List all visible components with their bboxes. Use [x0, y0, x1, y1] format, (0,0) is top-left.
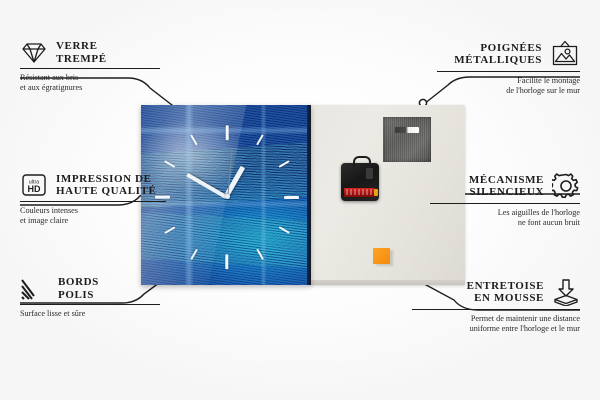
- metal-hanger-plate: [383, 117, 431, 162]
- callout-subtitle: Couleurs intenses et image claire: [20, 206, 166, 226]
- gear-icon: [552, 172, 580, 200]
- callout-subtitle: Résistant aux bris et aux égratignures: [20, 73, 160, 93]
- mechanism-hanging-loop: [353, 156, 371, 167]
- callout-impression-haute-qualite: ultra HD IMPRESSION DE HAUTE QUALITÉ Cou…: [20, 172, 166, 226]
- callout-subtitle: Les aiguilles de l'horloge ne font aucun…: [430, 208, 580, 228]
- clock-side-bevel: [307, 105, 311, 285]
- clock-face: [141, 105, 311, 285]
- callout-rule: [20, 68, 160, 69]
- callout-bords-polis: BORDS POLIS Surface lisse et sûre: [20, 276, 160, 319]
- callout-verre-trempe: VERRE TREMPÉ Résistant aux bris et aux é…: [20, 40, 160, 93]
- infographic-canvas: VERRE TREMPÉ Résistant aux bris et aux é…: [0, 0, 600, 400]
- callout-header: ultra HD IMPRESSION DE HAUTE QUALITÉ: [20, 172, 166, 198]
- battery: [344, 188, 375, 197]
- callout-rule: [412, 309, 580, 310]
- ultra-hd-badge-icon: ultra HD: [20, 172, 48, 198]
- callout-title: IMPRESSION DE HAUTE QUALITÉ: [56, 173, 156, 198]
- picture-frame-hanger-icon: [550, 40, 580, 68]
- battery-label: [346, 189, 372, 195]
- callout-header: MÉCANISME SILENCIEUX: [430, 172, 580, 200]
- callout-title: MÉCANISME SILENCIEUX: [469, 174, 544, 199]
- callout-entretoise-en-mousse: ENTRETOISE EN MOUSSE Permet de maintenir…: [412, 278, 580, 334]
- diamond-icon: [20, 41, 48, 65]
- callout-header: VERRE TREMPÉ: [20, 40, 160, 65]
- callout-poignees-metalliques: POIGNÉES MÉTALLIQUES Facilite le montage…: [437, 40, 580, 96]
- clock-tick: [284, 196, 299, 199]
- callout-header: BORDS POLIS: [20, 276, 160, 301]
- callout-header: ENTRETOISE EN MOUSSE: [412, 278, 580, 306]
- quartz-mechanism: [341, 163, 379, 201]
- polished-edges-icon: [20, 278, 50, 300]
- clock-tick: [226, 125, 229, 140]
- callout-rule: [20, 201, 166, 202]
- foam-spacer: [373, 248, 390, 264]
- product-image: [141, 105, 465, 285]
- callout-title: VERRE TREMPÉ: [56, 40, 107, 65]
- callout-rule: [437, 71, 580, 72]
- hanger-slot: [395, 127, 419, 133]
- callout-title: POIGNÉES MÉTALLIQUES: [454, 42, 542, 67]
- callout-title: BORDS POLIS: [58, 276, 99, 301]
- callout-subtitle: Surface lisse et sûre: [20, 309, 160, 319]
- clock-hub: [225, 194, 230, 199]
- clock-tick: [226, 254, 229, 269]
- callout-title: ENTRETOISE EN MOUSSE: [467, 280, 544, 305]
- callout-header: POIGNÉES MÉTALLIQUES: [437, 40, 580, 68]
- ultra-hd-bottom-text: HD: [28, 184, 41, 194]
- callout-subtitle: Permet de maintenir une distance uniform…: [412, 314, 580, 334]
- foam-spacer-arrow-icon: [552, 278, 580, 306]
- callout-mecanisme-silencieux: MÉCANISME SILENCIEUX Les aiguilles de l'…: [430, 172, 580, 228]
- callout-subtitle: Facilite le montage de l'horloge sur le …: [437, 76, 580, 96]
- callout-rule: [430, 203, 580, 204]
- callout-rule: [20, 304, 160, 305]
- mechanism-shaft: [366, 168, 373, 179]
